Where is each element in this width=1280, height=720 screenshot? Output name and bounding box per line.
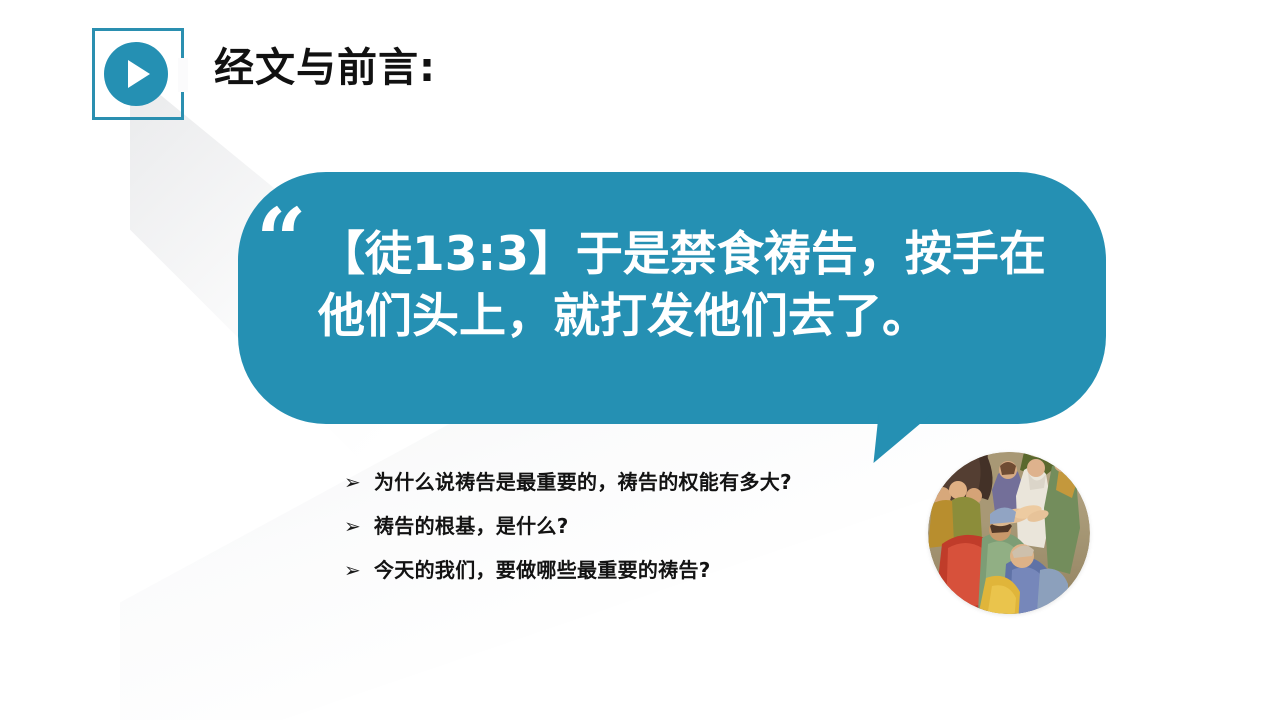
list-item: ➢ 祷告的根基，是什么? <box>344 514 944 538</box>
slide-header: 经文与前言: <box>0 0 1280 150</box>
question-list: ➢ 为什么说祷告是最重要的，祷告的权能有多大? ➢ 祷告的根基，是什么? ➢ 今… <box>344 470 944 602</box>
list-item-label: 祷告的根基，是什么? <box>374 514 569 538</box>
list-item-label: 今天的我们，要做哪些最重要的祷告? <box>374 558 711 582</box>
slide-canvas: 经文与前言: “ 【徒13:3】于是禁食祷告，按手在他们头上，就打发他们去了。 … <box>0 0 1280 720</box>
icon-frame-gap <box>178 58 188 92</box>
list-item: ➢ 今天的我们，要做哪些最重要的祷告? <box>344 558 944 582</box>
arrow-bullet-icon: ➢ <box>344 516 374 536</box>
laying-on-of-hands-painting <box>928 452 1090 614</box>
arrow-bullet-icon: ➢ <box>344 560 374 580</box>
play-triangle-glyph <box>128 60 150 88</box>
page-title: 经文与前言: <box>214 44 436 92</box>
quote-bubble-tail <box>873 415 930 463</box>
list-item: ➢ 为什么说祷告是最重要的，祷告的权能有多大? <box>344 470 944 494</box>
arrow-bullet-icon: ➢ <box>344 472 374 492</box>
play-button-icon[interactable] <box>104 42 168 106</box>
quotation-mark-icon: “ <box>256 196 307 284</box>
scripture-quote-text: 【徒13:3】于是禁食祷告，按手在他们头上，就打发他们去了。 <box>318 224 1074 348</box>
list-item-label: 为什么说祷告是最重要的，祷告的权能有多大? <box>374 470 792 494</box>
